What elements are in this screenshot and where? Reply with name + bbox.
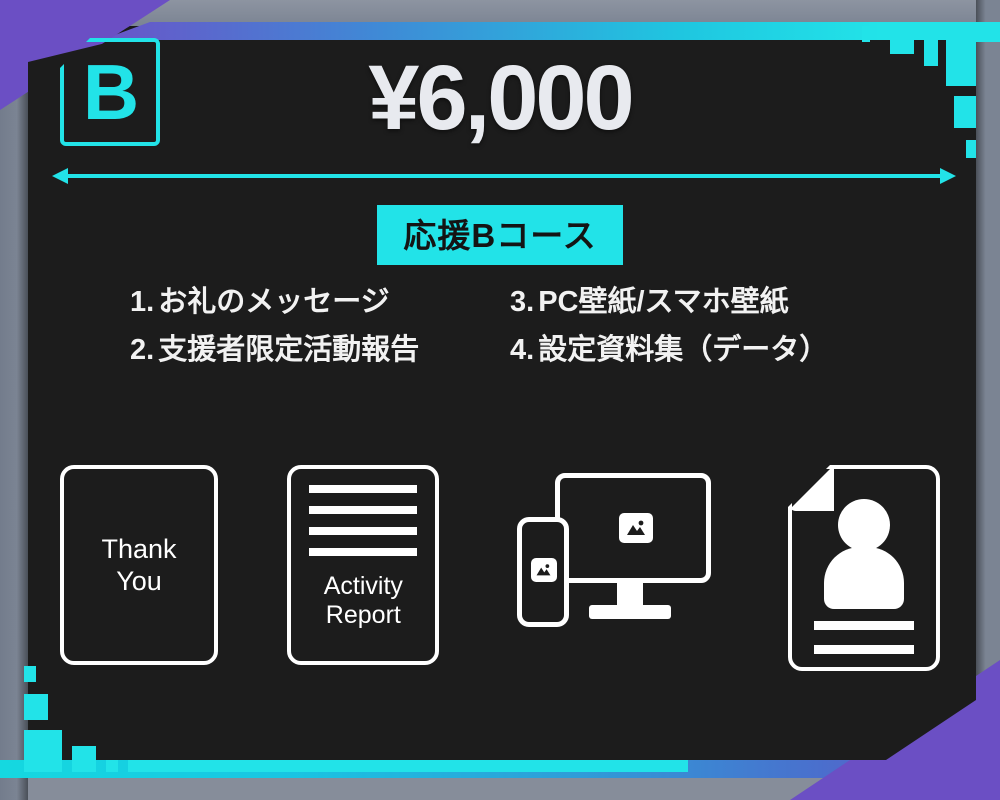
accent-block-bl-5 <box>24 694 48 720</box>
benefit-number: 2. <box>130 334 154 366</box>
character-profile-document-icon <box>788 465 940 671</box>
monitor-stand-neck <box>617 583 643 607</box>
activity-report-card: Activity Report <box>287 465 439 665</box>
benefit-label: PC壁紙/スマホ壁紙 <box>538 286 788 318</box>
accent-block-tr-5 <box>954 96 976 128</box>
thank-you-card-frame: Thank You <box>60 465 218 665</box>
wallpaper-devices-icon <box>509 465 719 645</box>
benefit-item: 4.設定資料集（データ） <box>510 326 880 368</box>
divider-line <box>66 174 942 178</box>
accent-block-tr-6 <box>966 140 976 158</box>
benefit-label: 設定資料集（データ） <box>538 334 828 366</box>
benefit-label: お礼のメッセージ <box>158 286 389 318</box>
course-banner: 応援Bコース <box>0 205 1000 265</box>
accent-block-bl-6 <box>24 666 36 682</box>
benefit-item: 2.支援者限定活動報告 <box>130 326 500 368</box>
thank-you-line-1: Thank <box>101 533 176 565</box>
benefit-label: 支援者限定活動報告 <box>158 334 419 366</box>
document-line <box>814 645 914 654</box>
accent-block-tr-1 <box>946 26 976 86</box>
reward-icon-row: Thank You Activity Report <box>60 465 940 675</box>
person-body-icon <box>824 547 904 609</box>
accent-block-bl-3 <box>106 760 118 772</box>
activity-report-line-2: Report <box>324 601 403 630</box>
activity-report-line-1: Activity <box>324 572 403 601</box>
arrow-right-icon <box>940 168 956 184</box>
activity-report-frame: Activity Report <box>287 465 439 665</box>
monitor-stand-base <box>589 605 671 619</box>
benefit-item: 1.お礼のメッセージ <box>130 278 500 320</box>
benefit-number: 1. <box>130 286 154 318</box>
course-banner-label: 応援Bコース <box>377 205 622 265</box>
person-head-icon <box>838 499 890 551</box>
image-icon <box>531 558 557 582</box>
header: B ¥6,000 <box>60 38 940 158</box>
document-line <box>814 621 914 630</box>
accent-block-bl-1 <box>24 730 62 772</box>
image-icon <box>619 513 653 543</box>
arrow-divider <box>52 168 956 184</box>
thank-you-line-2: You <box>101 565 176 597</box>
document-lines-icon <box>309 485 417 556</box>
benefits-list: 1.お礼のメッセージ 3.PC壁紙/スマホ壁紙 2.支援者限定活動報告 4.設定… <box>130 278 880 368</box>
accent-block-bl-2 <box>72 746 96 772</box>
benefit-item: 3.PC壁紙/スマホ壁紙 <box>510 278 880 320</box>
thank-you-card: Thank You <box>60 465 218 665</box>
accent-block-bl-4 <box>128 760 688 772</box>
price-amount: ¥6,000 <box>60 46 940 151</box>
benefit-number: 4. <box>510 334 534 366</box>
benefit-number: 3. <box>510 286 534 318</box>
